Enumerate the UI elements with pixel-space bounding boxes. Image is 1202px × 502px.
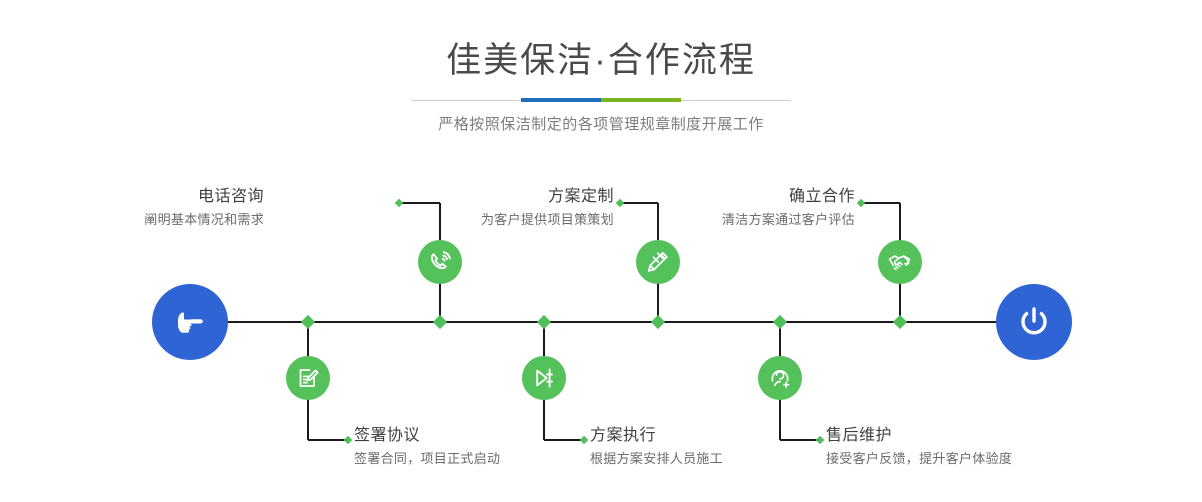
power-icon (1013, 301, 1055, 343)
flow-label-step-3: 方案定制 为客户提供项目策策划 (481, 186, 614, 230)
pencil-design-icon (645, 249, 671, 275)
flow-label-step-2: 签署协议 签署合同，项目正式启动 (354, 425, 500, 469)
flow-label-step-4-desc: 根据方案安排人员施工 (590, 449, 723, 469)
flow-node-step-3[interactable] (636, 240, 680, 284)
flow-label-step-5: 确立合作 清洁方案通过客户评估 (722, 186, 855, 230)
label-anchor-diamond (857, 199, 865, 207)
label-anchor-diamond (395, 199, 403, 207)
flow-label-step-2-desc: 签署合同，项目正式启动 (354, 449, 500, 469)
phone-call-icon (427, 249, 453, 275)
label-anchor-diamond (816, 436, 824, 444)
junction-diamond (651, 315, 665, 329)
flow-label-step-3-desc: 为客户提供项目策策划 (481, 210, 614, 230)
customer-service-icon (767, 365, 793, 391)
flow-label-step-1: 电话咨询 阐明基本情况和需求 (144, 186, 264, 230)
flow-end-node[interactable] (996, 284, 1072, 360)
flow-label-step-1-title: 电话咨询 (144, 186, 264, 208)
play-execute-icon (531, 365, 557, 391)
handshake-icon (887, 249, 914, 276)
label-anchor-diamond (616, 199, 624, 207)
flow-label-step-5-desc: 清洁方案通过客户评估 (722, 210, 855, 230)
junction-diamond (773, 315, 787, 329)
flow-node-step-6[interactable] (758, 356, 802, 400)
junction-diamond (433, 315, 447, 329)
flow-node-step-4[interactable] (522, 356, 566, 400)
junction-diamond (537, 315, 551, 329)
pointing-hand-icon (170, 302, 210, 342)
flow-node-step-2[interactable] (286, 356, 330, 400)
flow-label-step-1-desc: 阐明基本情况和需求 (144, 210, 264, 230)
flow-start-node[interactable] (152, 284, 228, 360)
flow-label-step-2-title: 签署协议 (354, 425, 500, 447)
flow-label-step-3-title: 方案定制 (481, 186, 614, 208)
flow-label-step-6: 售后维护 接受客户反馈，提升客户体验度 (826, 425, 1012, 469)
process-flow-infographic: 佳美保洁·合作流程 严格按照保洁制定的各项管理规章制度开展工作 (0, 0, 1202, 502)
junction-diamond (893, 315, 907, 329)
flow-node-step-5[interactable] (878, 240, 922, 284)
flow-label-step-6-desc: 接受客户反馈，提升客户体验度 (826, 449, 1012, 469)
flow-label-step-4: 方案执行 根据方案安排人员施工 (590, 425, 723, 469)
flow-label-step-4-title: 方案执行 (590, 425, 723, 447)
flow-label-step-6-title: 售后维护 (826, 425, 1012, 447)
flow-diagram: 电话咨询 阐明基本情况和需求 签署协议 签署合同，项目正式启动 (0, 0, 1202, 502)
junction-diamond (301, 315, 315, 329)
sign-document-icon (295, 365, 321, 391)
flow-node-step-1[interactable] (418, 240, 462, 284)
label-anchor-diamond (344, 436, 352, 444)
flow-label-step-5-title: 确立合作 (722, 186, 855, 208)
label-anchor-diamond (580, 436, 588, 444)
